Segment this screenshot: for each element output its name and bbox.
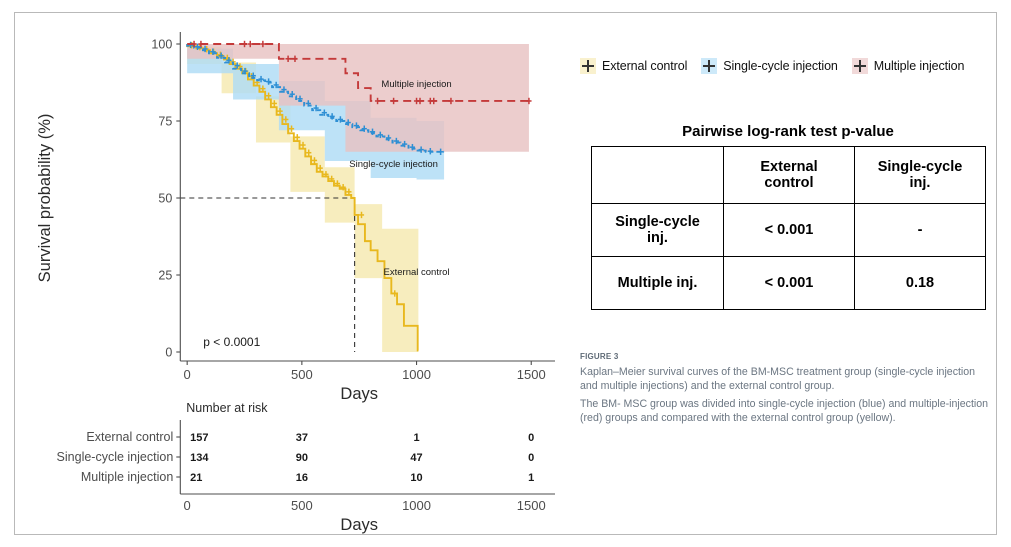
- legend-label: Multiple injection: [874, 59, 965, 73]
- svg-text:10: 10: [410, 472, 422, 484]
- svg-text:500: 500: [291, 498, 313, 513]
- svg-text:0: 0: [184, 498, 191, 513]
- row-header-multiple-inj: Multiple inj.: [592, 257, 724, 310]
- svg-text:External control: External control: [384, 267, 450, 278]
- svg-text:47: 47: [410, 452, 422, 464]
- svg-text:1500: 1500: [517, 498, 546, 513]
- legend-key-plus-icon: [701, 58, 717, 74]
- svg-text:25: 25: [158, 269, 172, 283]
- table-header-row: Externalcontrol Single-cycleinj.: [592, 147, 986, 204]
- legend-item-external-control[interactable]: External control: [580, 58, 687, 74]
- svg-text:157: 157: [190, 432, 208, 444]
- svg-text:0: 0: [184, 367, 191, 382]
- caption-paragraph: Kaplan–Meier survival curves of the BM-M…: [580, 366, 992, 393]
- right-panel: External control Single-cycle injection …: [573, 0, 1003, 547]
- cell-single-vs-external: < 0.001: [724, 204, 855, 257]
- figure-page: 0255075100050010001500DaysSurvival proba…: [0, 0, 1011, 547]
- svg-text:1000: 1000: [402, 498, 431, 513]
- cell-single-vs-single: -: [855, 204, 986, 257]
- svg-text:1500: 1500: [517, 367, 546, 382]
- table-corner-cell: [592, 147, 724, 204]
- figure-caption: Kaplan–Meier survival curves of the BM-M…: [580, 366, 992, 430]
- caption-paragraph: The BM- MSC group was divided into singl…: [580, 398, 992, 425]
- kaplan-meier-chart-panel: 0255075100050010001500DaysSurvival proba…: [0, 0, 560, 547]
- cell-multiple-vs-single: 0.18: [855, 257, 986, 310]
- svg-text:Single-cycle injection: Single-cycle injection: [57, 450, 174, 464]
- pairwise-pvalue-table: Externalcontrol Single-cycleinj. Single-…: [591, 146, 986, 310]
- svg-text:1: 1: [413, 432, 419, 444]
- svg-text:Survival probability (%): Survival probability (%): [36, 114, 54, 283]
- figure-number-label: FIGURE 3: [580, 352, 619, 361]
- svg-text:500: 500: [291, 367, 313, 382]
- svg-text:16: 16: [296, 472, 308, 484]
- legend-item-single-cycle-injection[interactable]: Single-cycle injection: [701, 58, 838, 74]
- kaplan-meier-svg: 0255075100050010001500DaysSurvival proba…: [0, 0, 560, 547]
- svg-text:90: 90: [296, 452, 308, 464]
- svg-text:0: 0: [528, 452, 534, 464]
- svg-text:50: 50: [158, 192, 172, 206]
- svg-text:External control: External control: [86, 430, 173, 444]
- svg-text:37: 37: [296, 432, 308, 444]
- svg-text:134: 134: [190, 452, 209, 464]
- svg-text:Single-cycle injection: Single-cycle injection: [349, 159, 438, 170]
- cell-multiple-vs-external: < 0.001: [724, 257, 855, 310]
- svg-text:Days: Days: [340, 385, 378, 403]
- svg-text:100: 100: [151, 38, 172, 52]
- legend-item-multiple-injection[interactable]: Multiple injection: [852, 58, 965, 74]
- svg-text:Multiple injection: Multiple injection: [381, 79, 451, 90]
- svg-text:0: 0: [165, 346, 172, 360]
- table-row: Single-cycleinj. < 0.001 -: [592, 204, 986, 257]
- chart-legend: External control Single-cycle injection …: [580, 58, 978, 74]
- table-row: Multiple inj. < 0.001 0.18: [592, 257, 986, 310]
- row-header-single-cycle-inj: Single-cycleinj.: [592, 204, 724, 257]
- legend-label: Single-cycle injection: [723, 59, 838, 73]
- svg-text:75: 75: [158, 115, 172, 129]
- svg-text:Multiple injection: Multiple injection: [81, 470, 173, 484]
- svg-text:1: 1: [528, 472, 534, 484]
- legend-key-plus-icon: [580, 58, 596, 74]
- legend-key-plus-icon: [852, 58, 868, 74]
- svg-text:Number at risk: Number at risk: [186, 401, 268, 415]
- legend-label: External control: [602, 59, 687, 73]
- column-header-single-cycle-inj: Single-cycleinj.: [855, 147, 986, 204]
- svg-text:p < 0.0001: p < 0.0001: [203, 335, 260, 349]
- svg-text:0: 0: [528, 432, 534, 444]
- column-header-external-control: Externalcontrol: [724, 147, 855, 204]
- svg-text:21: 21: [190, 472, 202, 484]
- svg-text:Days: Days: [340, 516, 378, 534]
- pvalue-table-title: Pairwise log-rank test p-value: [573, 123, 1003, 140]
- svg-text:1000: 1000: [402, 367, 431, 382]
